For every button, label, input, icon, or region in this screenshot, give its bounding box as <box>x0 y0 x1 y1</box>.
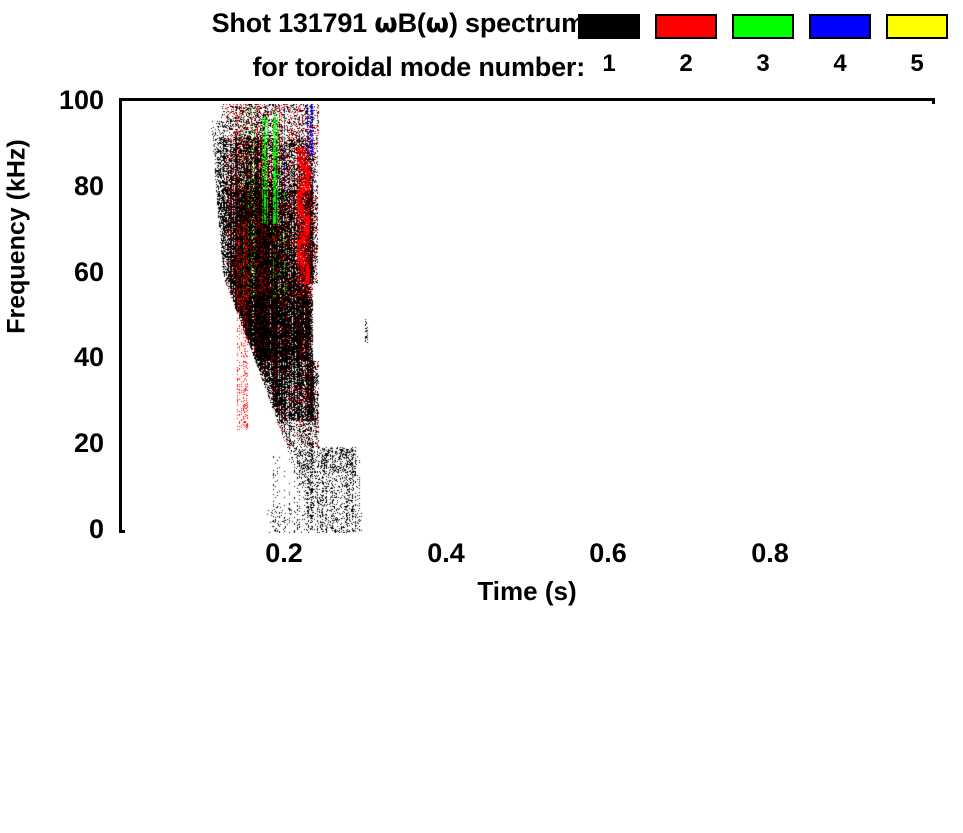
legend-label-2: 2 <box>655 52 717 76</box>
y-tick-label-60: 60 <box>0 259 104 286</box>
legend-label-1: 1 <box>578 52 640 76</box>
legend-item-2: 2 <box>655 14 717 76</box>
y-tick-label-100: 100 <box>0 87 104 114</box>
x-tick-top-0.525 <box>122 544 125 551</box>
x-tick-minor-0.575 <box>122 565 125 572</box>
x-tick-label-0.2: 0.2 <box>239 540 329 567</box>
x-tick-top-1 <box>122 826 125 833</box>
figure-root: Shot 131791 ωB(ω) spectrum for toroidal … <box>0 0 963 615</box>
x-tick-minor-0.65 <box>122 615 125 622</box>
y-tick-label-20: 20 <box>0 430 104 457</box>
x-tick-minor-0.525 <box>122 537 125 544</box>
legend-label-5: 5 <box>886 52 948 76</box>
legend-item-3: 3 <box>732 14 794 76</box>
x-tick-minor-0.675 <box>122 629 125 636</box>
x-tick-minor-0.975 <box>122 805 125 812</box>
legend-item-5: 5 <box>886 14 948 76</box>
x-tick-top-0.975 <box>122 812 125 819</box>
x-tick-top-0.675 <box>122 636 125 643</box>
chart-title-line-2: for toroidal mode number: <box>0 52 585 83</box>
x-tick-top-0.625 <box>122 608 125 615</box>
chart-title-b: B( <box>398 8 426 38</box>
legend-label-4: 4 <box>809 52 871 76</box>
x-tick-minor-0.725 <box>122 657 125 664</box>
x-tick-minor-0.75 <box>122 671 125 678</box>
x-tick-label-0.4: 0.4 <box>401 540 491 567</box>
spectrogram-canvas <box>125 104 935 533</box>
x-tick-minor-0.925 <box>122 777 125 784</box>
legend-swatch-green <box>732 14 794 39</box>
x-tick-minor-0.875 <box>122 749 125 756</box>
x-tick-minor-0.825 <box>122 721 125 728</box>
x-tick-top-0.9 <box>122 770 125 777</box>
x-tick-major-0.8 <box>122 699 125 710</box>
x-tick-top-0.95 <box>122 798 125 805</box>
x-tick-minor-0.55 <box>122 551 125 558</box>
x-tick-label-0.6: 0.6 <box>563 540 653 567</box>
x-tick-label-0.8: 0.8 <box>725 540 815 567</box>
x-tick-top-0.875 <box>122 756 125 763</box>
legend-item-4: 4 <box>809 14 871 76</box>
x-tick-top-0.725 <box>122 664 125 671</box>
legend-swatch-black <box>578 14 640 39</box>
x-axis-title: Time (s) <box>119 576 935 607</box>
legend-swatch-red <box>655 14 717 39</box>
x-tick-top-0.775 <box>122 692 125 699</box>
x-tick-top-0.55 <box>122 558 125 565</box>
x-tick-minor-0.9 <box>122 763 125 770</box>
x-tick-minor-0.775 <box>122 685 125 692</box>
y-tick-label-80: 80 <box>0 173 104 200</box>
x-tick-minor-0.85 <box>122 735 125 742</box>
chart-title-suffix: ) spectrum <box>449 8 585 38</box>
x-tick-top-0.825 <box>122 728 125 735</box>
legend-item-1: 1 <box>578 14 640 76</box>
plot-area <box>119 98 935 533</box>
legend-swatch-yellow <box>886 14 948 39</box>
chart-title-text: Shot 131791 <box>212 8 375 38</box>
x-tick-top-0.75 <box>122 678 125 685</box>
y-tick-label-40: 40 <box>0 344 104 371</box>
legend-swatch-blue <box>809 14 871 39</box>
chart-title-line-1: Shot 131791 ωB(ω) spectrum <box>0 8 585 39</box>
x-tick-top-0.8 <box>122 710 125 721</box>
x-tick-top-0.925 <box>122 784 125 791</box>
legend: 12345 <box>578 14 958 90</box>
x-tick-top-0.7 <box>122 650 125 657</box>
x-tick-minor-1 <box>122 819 125 826</box>
x-tick-minor-0.95 <box>122 791 125 798</box>
y-tick-label-0: 0 <box>0 516 104 543</box>
legend-label-3: 3 <box>732 52 794 76</box>
omega-symbol-1: ω <box>374 8 397 39</box>
x-tick-top-0.85 <box>122 742 125 749</box>
x-tick-top-0.65 <box>122 622 125 629</box>
omega-symbol-2: ω <box>426 8 449 39</box>
x-tick-minor-0.7 <box>122 643 125 650</box>
